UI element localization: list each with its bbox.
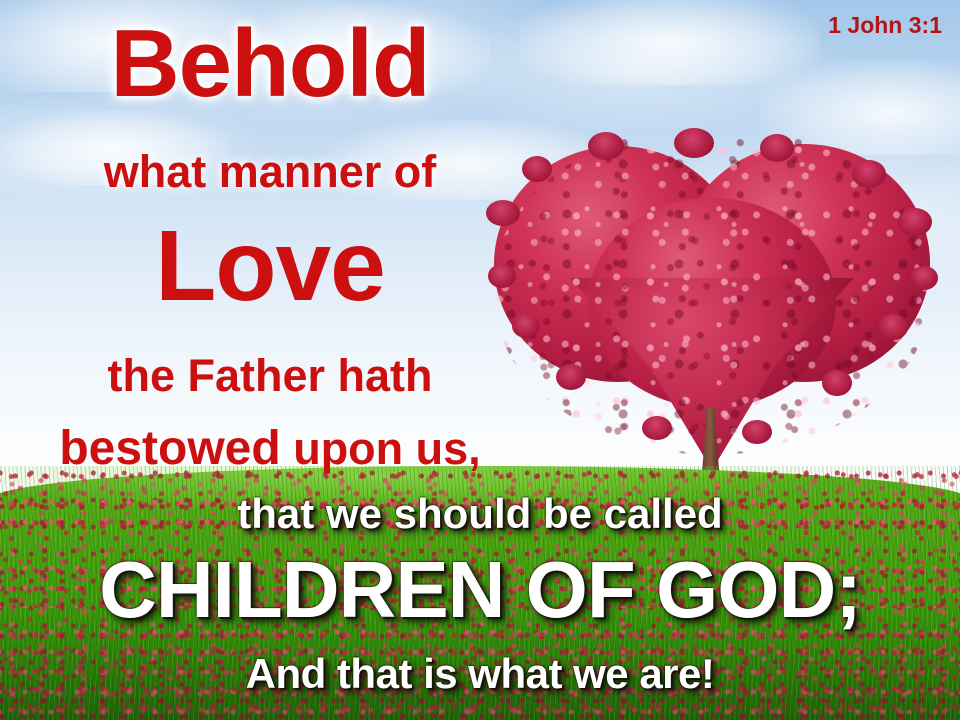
scripture-reference: 1 John 3:1 [828,12,942,39]
verse-line-father: the Father hath [0,352,540,399]
verse-line-bestowed: bestowed upon us, [0,424,540,474]
verse-line-behold: Behold [0,14,540,115]
blossom-sprig [910,266,938,290]
blossom-sprig [760,134,794,162]
verse-line-manner: what manner of [0,148,540,195]
blossom-sprig [878,314,908,340]
verse-word-bestowed: bestowed [59,422,280,475]
blossom-sprig [556,364,586,390]
verse-line-we-are: And that is what we are! [0,652,960,696]
blossom-sprig [674,128,714,158]
blossom-sprig [852,160,886,188]
blossom-sprig [588,132,624,160]
scripture-image: 1 John 3:1 Behold what manner of Love th… [0,0,960,720]
blossom-sprig [742,420,772,444]
blossom-sprig [822,370,852,396]
verse-line-called: that we should be called [0,492,960,536]
blossom-sprig [642,416,672,440]
heart-tree-illustration [492,138,932,498]
cloud-icon [520,0,820,85]
verse-word-upon-us: upon us, [293,423,480,474]
verse-line-children: CHILDREN OF GOD; [0,548,960,632]
blossom-sprig [898,208,932,236]
verse-line-love: Love [0,214,540,319]
